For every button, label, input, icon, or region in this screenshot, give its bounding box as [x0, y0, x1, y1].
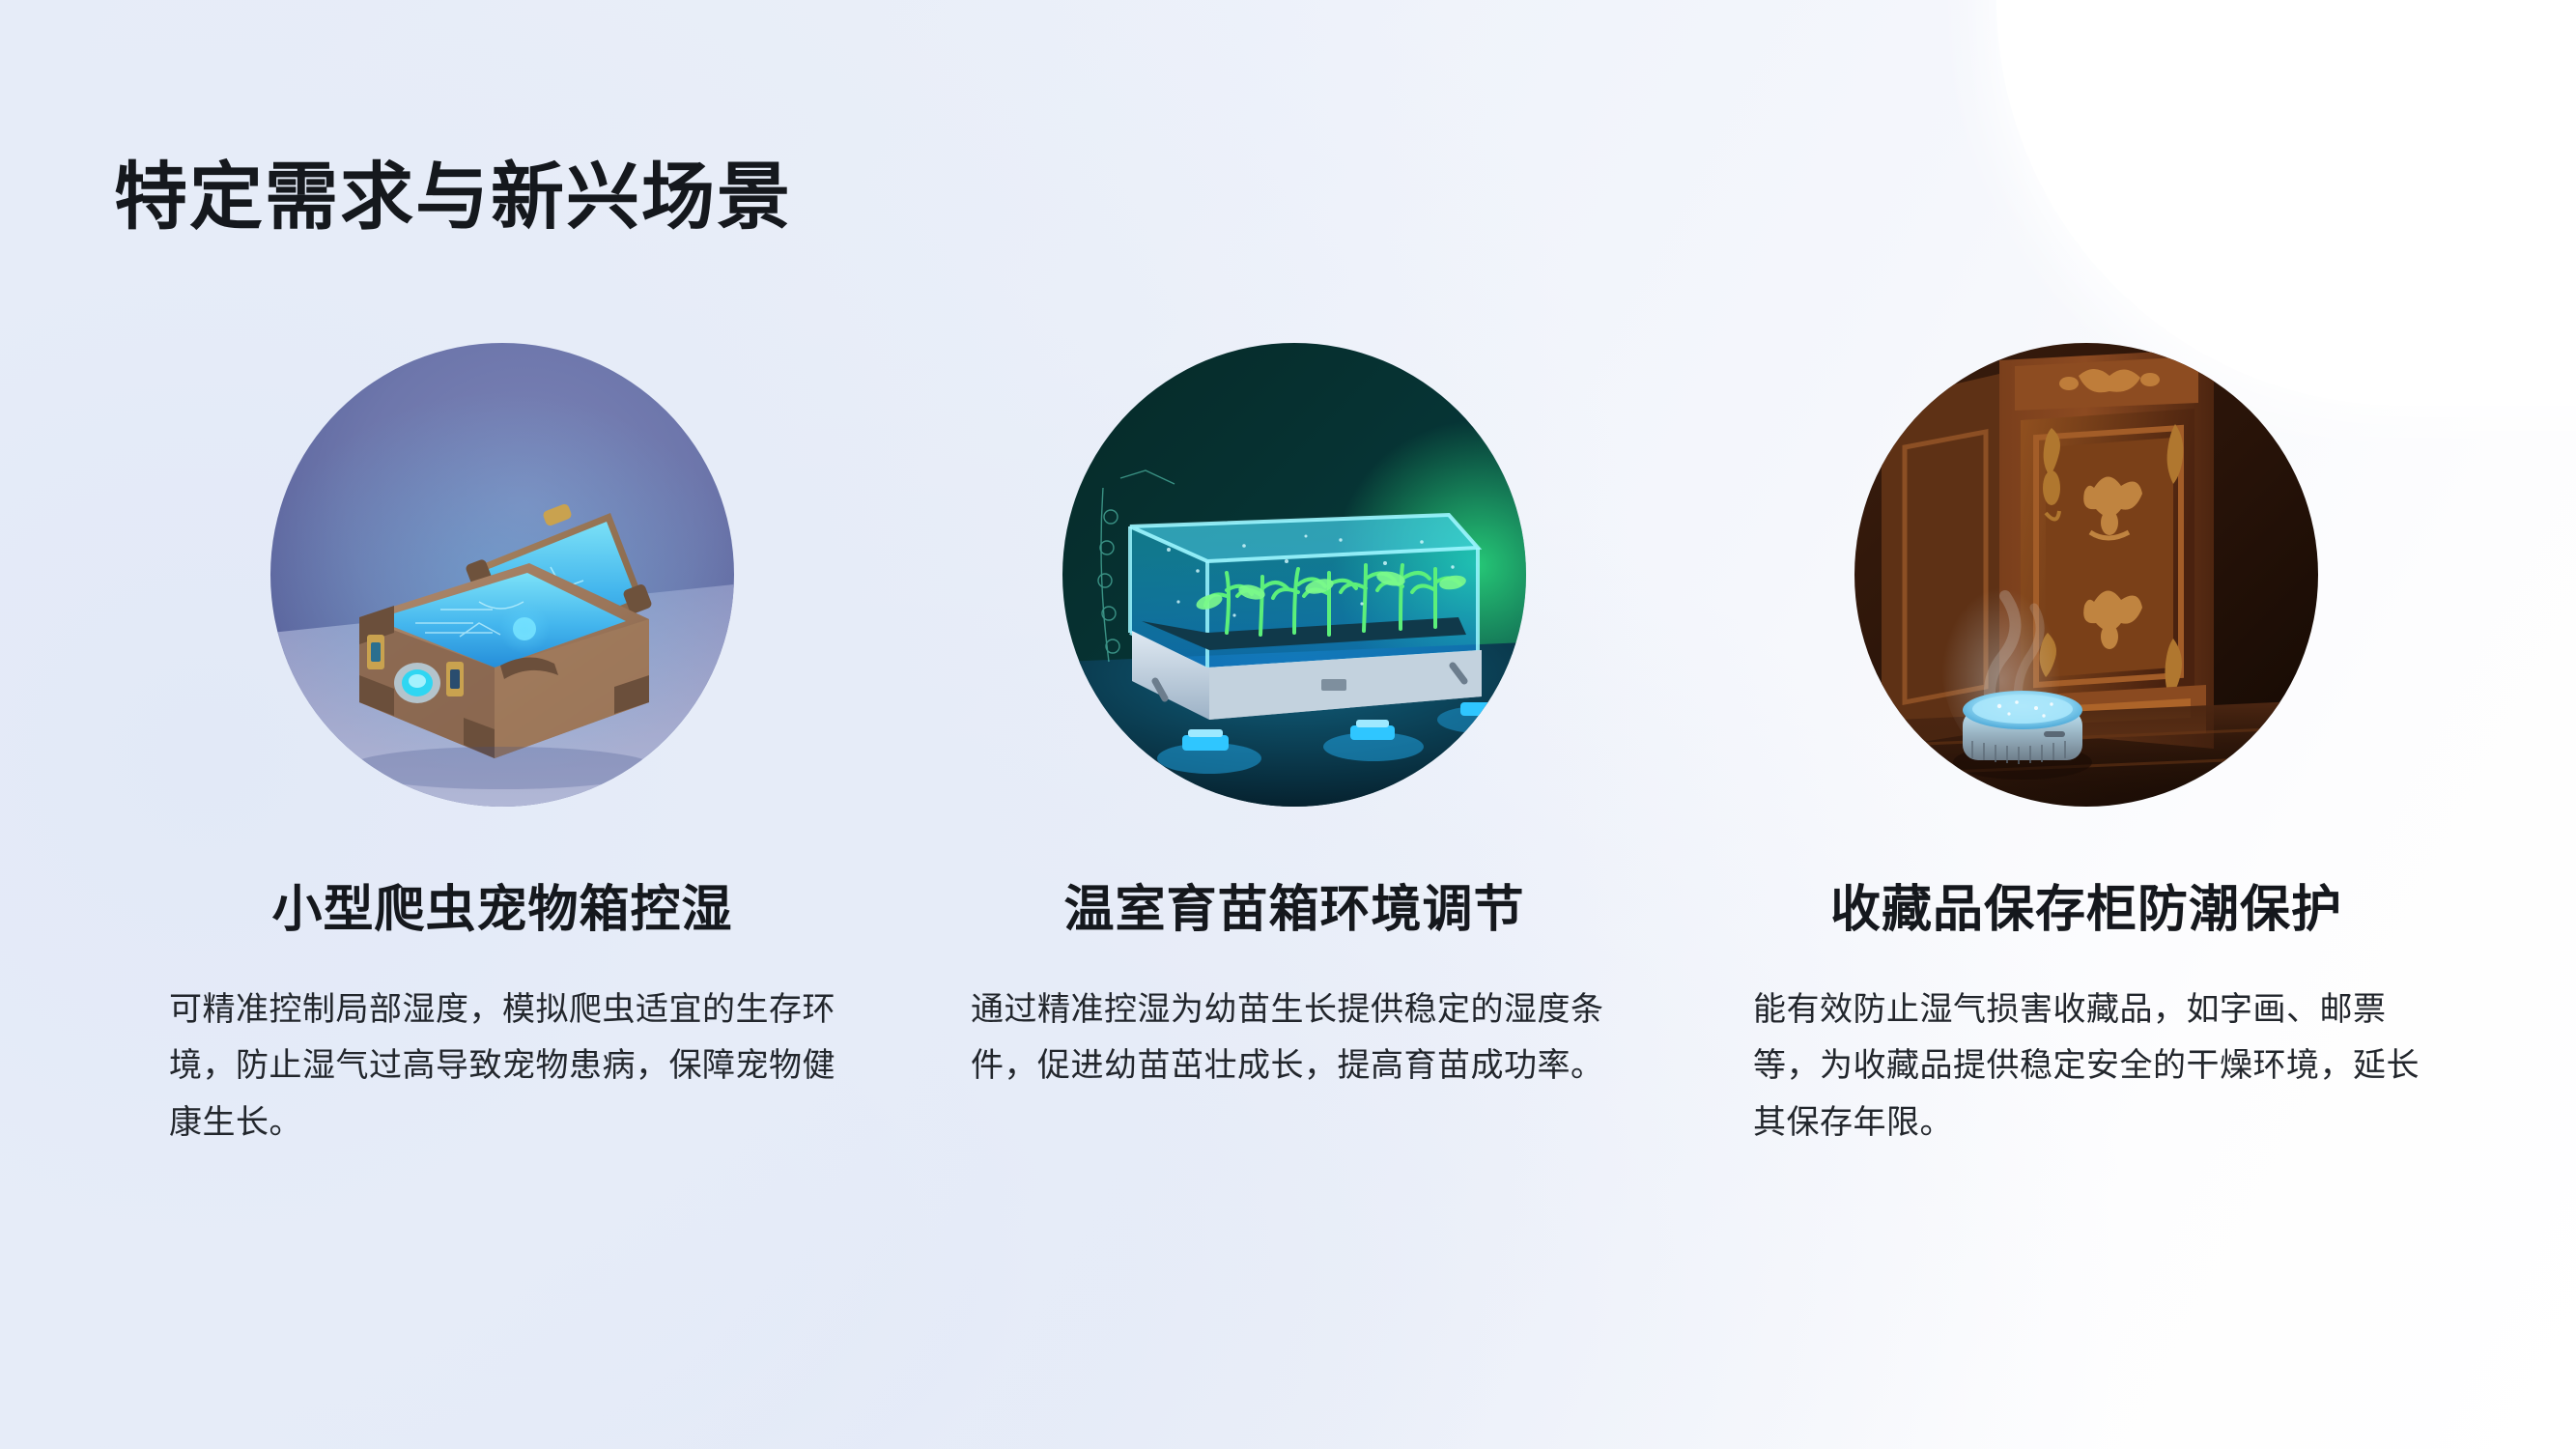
- card-body-collection-cabinet: 能有效防止湿气损害收藏品，如字画、邮票等，为收藏品提供稳定安全的干燥环境，延长其…: [1753, 981, 2420, 1151]
- card-title-reptile-terrarium: 小型爬虫宠物箱控湿: [271, 868, 732, 941]
- card-title-collection-cabinet: 收藏品保存柜防潮保护: [1830, 868, 2342, 941]
- page-title: 特定需求与新兴场景: [114, 157, 792, 239]
- card-seedling-greenhouse: 温室育苗箱环境调节 通过精准控湿为幼苗生长提供稳定的湿度条件，促进幼苗茁壮成长，…: [898, 343, 1690, 1094]
- cards-row: 小型爬虫宠物箱控湿 可精准控制局部湿度，模拟爬虫适宜的生存环境，防止湿气过高导致…: [106, 343, 2482, 1151]
- thumbnail-glowing-seedling-propagation-tank: [1062, 343, 1526, 807]
- card-reptile-terrarium: 小型爬虫宠物箱控湿 可精准控制局部湿度，模拟爬虫适宜的生存环境，防止湿气过高导致…: [106, 343, 898, 1151]
- slide-root: 特定需求与新兴场景: [0, 0, 2576, 1449]
- card-collection-cabinet: 收藏品保存柜防潮保护 能有效防止湿气损害收藏品，如字画、邮票等，为收藏品提供稳定…: [1690, 343, 2482, 1151]
- card-body-seedling-greenhouse: 通过精准控湿为幼苗生长提供稳定的湿度条件，促进幼苗茁壮成长，提高育苗成功率。: [971, 981, 1618, 1094]
- thumbnail-antique-cabinet-with-dehumidifier: [1854, 343, 2318, 807]
- thumbnail-glowing-blue-reptile-terrarium-chest: [270, 343, 734, 807]
- card-title-seedling-greenhouse: 温室育苗箱环境调节: [1063, 868, 1524, 941]
- card-body-reptile-terrarium: 可精准控制局部湿度，模拟爬虫适宜的生存环境，防止湿气过高导致宠物患病，保障宠物健…: [169, 981, 835, 1151]
